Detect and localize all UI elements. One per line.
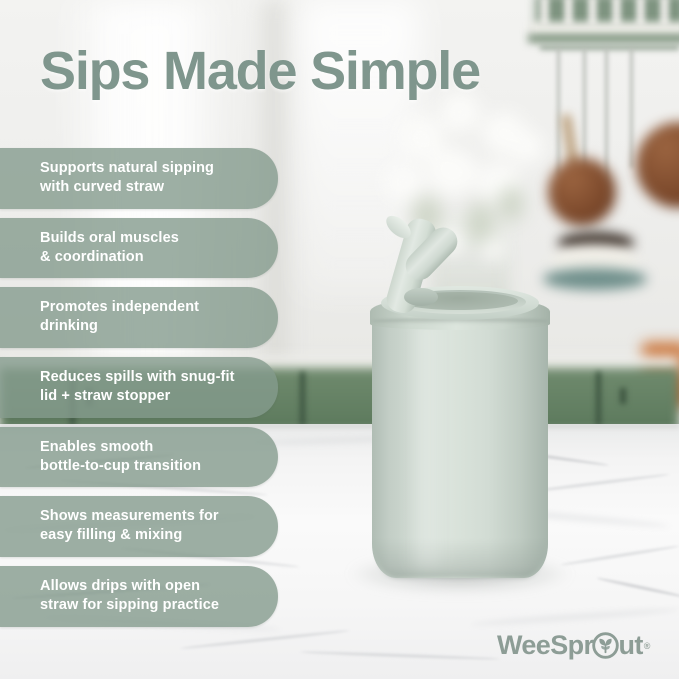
feature-list: Supports natural sipping with curved str… xyxy=(0,148,300,636)
registered-trademark-symbol: ® xyxy=(644,641,650,651)
feature-text-line: Reduces spills with snug-fit xyxy=(40,368,258,387)
feature-text-line: Enables smooth xyxy=(40,438,258,457)
feature-pill-5: Enables smooth bottle-to-cup transition xyxy=(0,427,278,488)
cup-highlight xyxy=(404,318,450,568)
feature-text-line: bottle-to-cup transition xyxy=(40,457,258,476)
feature-text-line: easy filling & mixing xyxy=(40,526,258,545)
page-title: Sips Made Simple xyxy=(40,40,480,102)
feature-pill-2: Builds oral muscles & coordination xyxy=(0,218,278,279)
feature-text-line: Builds oral muscles xyxy=(40,229,258,248)
brand-name-part1: WeeSpr xyxy=(497,630,593,661)
feature-text-line: Supports natural sipping xyxy=(40,159,258,178)
feature-text-line: Promotes independent xyxy=(40,298,258,317)
brand-name-part2: ut xyxy=(618,630,642,661)
feature-text-line: with curved straw xyxy=(40,178,258,197)
cup-body xyxy=(372,310,548,578)
feature-pill-1: Supports natural sipping with curved str… xyxy=(0,148,278,209)
feature-text-line: drinking xyxy=(40,317,258,336)
feature-pill-6: Shows measurements for easy filling & mi… xyxy=(0,496,278,557)
product-marketing-image: Sips Made Simple Supports natural sippin… xyxy=(0,0,679,679)
feature-text-line: lid + straw stopper xyxy=(40,387,258,406)
feature-pill-3: Promotes independent drinking xyxy=(0,287,278,348)
feature-text-line: & coordination xyxy=(40,248,258,267)
feature-text-line: Allows drips with open xyxy=(40,577,258,596)
cup-base-shading xyxy=(374,540,546,578)
straw-base-in-lid xyxy=(404,288,438,306)
feature-text-line: straw for sipping practice xyxy=(40,596,258,615)
brand-logo: WeeSpr ut ® xyxy=(497,630,650,661)
feature-pill-4: Reduces spills with snug-fit lid + straw… xyxy=(0,357,278,418)
feature-text-line: Shows measurements for xyxy=(40,507,258,526)
sprout-icon xyxy=(592,632,619,659)
feature-pill-7: Allows drips with open straw for sipping… xyxy=(0,566,278,627)
